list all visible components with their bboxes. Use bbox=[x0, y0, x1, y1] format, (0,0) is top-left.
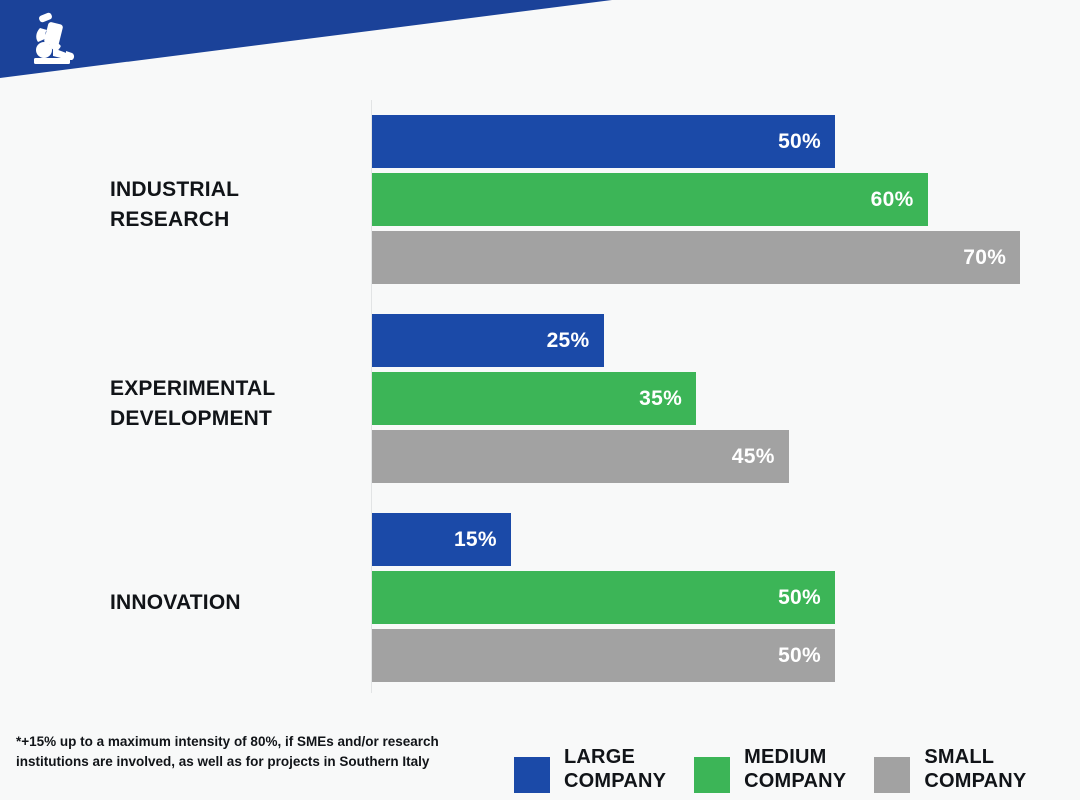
footnote-text: *+15% up to a maximum intensity of 80%, … bbox=[16, 732, 468, 772]
legend-item-small-company[interactable]: SMALL COMPANY bbox=[874, 745, 1026, 794]
bar-row: 70% bbox=[372, 231, 1020, 284]
chart-legend: LARGE COMPANY MEDIUM COMPANY SMALL COMPA… bbox=[514, 745, 1080, 800]
category-label-innovation: INNOVATION bbox=[110, 588, 360, 618]
microscope-icon bbox=[26, 12, 78, 68]
legend-item-large-company[interactable]: LARGE COMPANY bbox=[514, 745, 666, 794]
bar-large-experimental-development[interactable]: 25% bbox=[372, 314, 604, 367]
bar-row: 15% bbox=[372, 513, 835, 566]
header-banner bbox=[0, 0, 1080, 90]
bars-industrial-research: 50% 60% 70% bbox=[372, 115, 1020, 289]
bar-row: 50% bbox=[372, 115, 1020, 168]
legend-label-line-1: SMALL bbox=[924, 745, 1026, 769]
bar-row: 25% bbox=[372, 314, 789, 367]
legend-item-medium-company[interactable]: MEDIUM COMPANY bbox=[694, 745, 846, 794]
bar-small-experimental-development[interactable]: 45% bbox=[372, 430, 789, 483]
legend-label-line-2: COMPANY bbox=[564, 769, 666, 793]
bar-row: 45% bbox=[372, 430, 789, 483]
bar-medium-experimental-development[interactable]: 35% bbox=[372, 372, 696, 425]
bar-medium-industrial-research[interactable]: 60% bbox=[372, 173, 928, 226]
bar-value-label: 60% bbox=[871, 188, 914, 212]
bar-value-label: 50% bbox=[778, 644, 821, 668]
bar-small-industrial-research[interactable]: 70% bbox=[372, 231, 1020, 284]
bar-value-label: 50% bbox=[778, 130, 821, 154]
legend-label-line-1: MEDIUM bbox=[744, 745, 846, 769]
bar-medium-innovation[interactable]: 50% bbox=[372, 571, 835, 624]
category-label-line-1: EXPERIMENTAL bbox=[110, 374, 360, 404]
bar-row: 35% bbox=[372, 372, 789, 425]
bar-value-label: 45% bbox=[732, 445, 775, 469]
bar-value-label: 70% bbox=[963, 246, 1006, 270]
bar-value-label: 15% bbox=[454, 528, 497, 552]
bar-group-industrial-research: INDUSTRIAL RESEARCH 50% 60% 70% bbox=[0, 115, 1080, 297]
legend-label-line-1: LARGE bbox=[564, 745, 666, 769]
bar-row: 50% bbox=[372, 571, 835, 624]
bar-row: 50% bbox=[372, 629, 835, 682]
bar-large-innovation[interactable]: 15% bbox=[372, 513, 511, 566]
bar-value-label: 25% bbox=[547, 329, 590, 353]
legend-swatch-large bbox=[514, 757, 550, 793]
bar-row: 60% bbox=[372, 173, 1020, 226]
category-label-industrial-research: INDUSTRIAL RESEARCH bbox=[110, 175, 360, 235]
bars-experimental-development: 25% 35% 45% bbox=[372, 314, 789, 488]
legend-swatch-small bbox=[874, 757, 910, 793]
legend-label-medium: MEDIUM COMPANY bbox=[744, 745, 846, 794]
legend-label-small: SMALL COMPANY bbox=[924, 745, 1026, 794]
category-label-experimental-development: EXPERIMENTAL DEVELOPMENT bbox=[110, 374, 360, 434]
category-label-line-1: INNOVATION bbox=[110, 588, 360, 618]
bar-large-industrial-research[interactable]: 50% bbox=[372, 115, 835, 168]
bar-group-experimental-development: EXPERIMENTAL DEVELOPMENT 25% 35% 45% bbox=[0, 314, 1080, 496]
legend-swatch-medium bbox=[694, 757, 730, 793]
category-label-line-2: DEVELOPMENT bbox=[110, 404, 360, 434]
bars-innovation: 15% 50% 50% bbox=[372, 513, 835, 687]
bar-chart: INDUSTRIAL RESEARCH 50% 60% 70% bbox=[0, 95, 1080, 700]
bar-small-innovation[interactable]: 50% bbox=[372, 629, 835, 682]
bar-group-innovation: INNOVATION 15% 50% 50% bbox=[0, 513, 1080, 695]
banner-shape bbox=[0, 0, 1080, 90]
bar-value-label: 35% bbox=[639, 387, 682, 411]
legend-label-line-2: COMPANY bbox=[744, 769, 846, 793]
legend-label-line-2: COMPANY bbox=[924, 769, 1026, 793]
bar-value-label: 50% bbox=[778, 586, 821, 610]
legend-label-large: LARGE COMPANY bbox=[564, 745, 666, 794]
category-label-line-1: INDUSTRIAL bbox=[110, 175, 360, 205]
category-label-line-2: RESEARCH bbox=[110, 205, 360, 235]
